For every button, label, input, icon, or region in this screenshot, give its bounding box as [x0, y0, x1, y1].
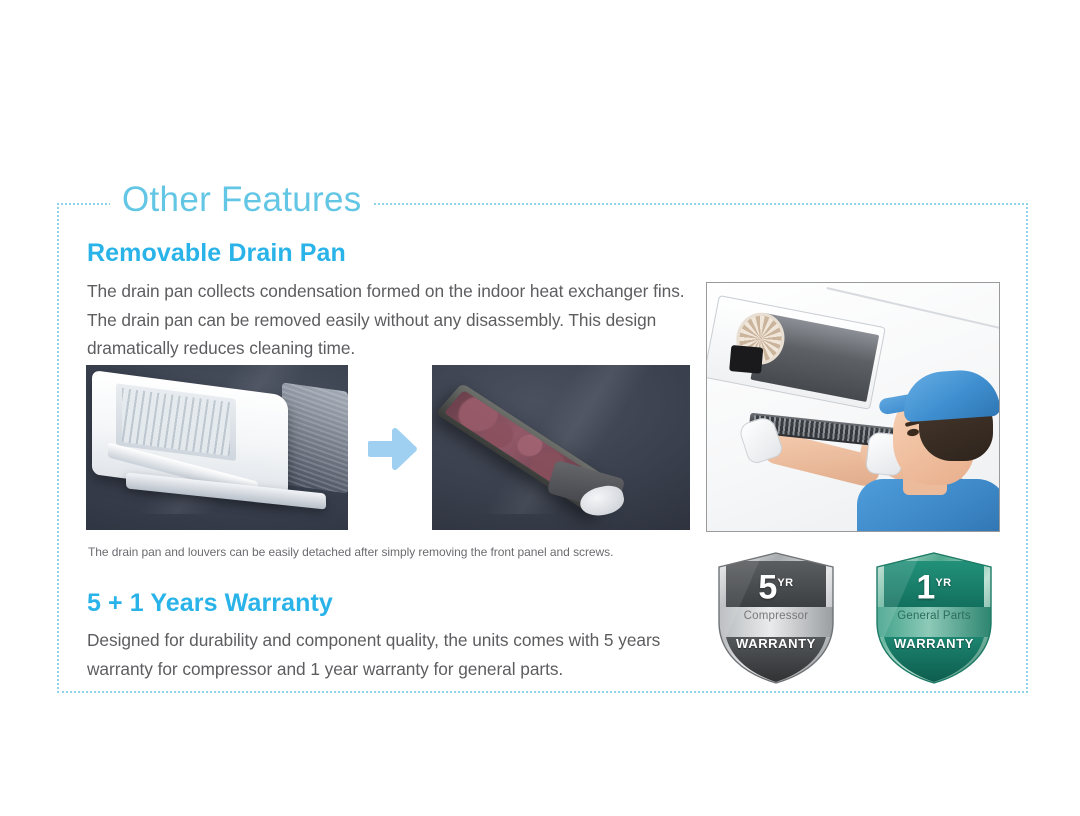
- warranty-badges-group: 5YR Compressor WARRANTY: [712, 550, 1012, 690]
- panel-border-right: [1026, 203, 1028, 693]
- indoor-ac-unit-photo: [86, 365, 348, 530]
- page-title: Other Features: [110, 178, 374, 222]
- section-heading-years-warranty: 5 + 1 Years Warranty: [87, 589, 333, 618]
- photo-caption: The drain pan and louvers can be easily …: [88, 544, 708, 560]
- ac-internal-components: [282, 382, 348, 493]
- shield-icon: [712, 550, 840, 686]
- right-arrow-icon: [368, 428, 418, 470]
- illustration-ac-open-cavity: [729, 345, 763, 374]
- removed-drain-pan-photo: [432, 365, 690, 530]
- panel-border-top-right: [355, 203, 1028, 205]
- section-body-removable-drain-pan: The drain pan collects condensation form…: [87, 277, 702, 363]
- section-heading-removable-drain-pan: Removable Drain Pan: [87, 239, 346, 268]
- general-parts-warranty-badge: 1YR General Parts WARRANTY: [870, 550, 998, 686]
- panel-border-left: [57, 203, 59, 693]
- shield-icon: [870, 550, 998, 686]
- technician-removing-drain-pan-illustration: [706, 282, 1000, 532]
- panel-border-bottom: [57, 691, 1028, 693]
- compressor-warranty-badge: 5YR Compressor WARRANTY: [712, 550, 840, 686]
- section-body-years-warranty: Designed for durability and component qu…: [87, 626, 702, 683]
